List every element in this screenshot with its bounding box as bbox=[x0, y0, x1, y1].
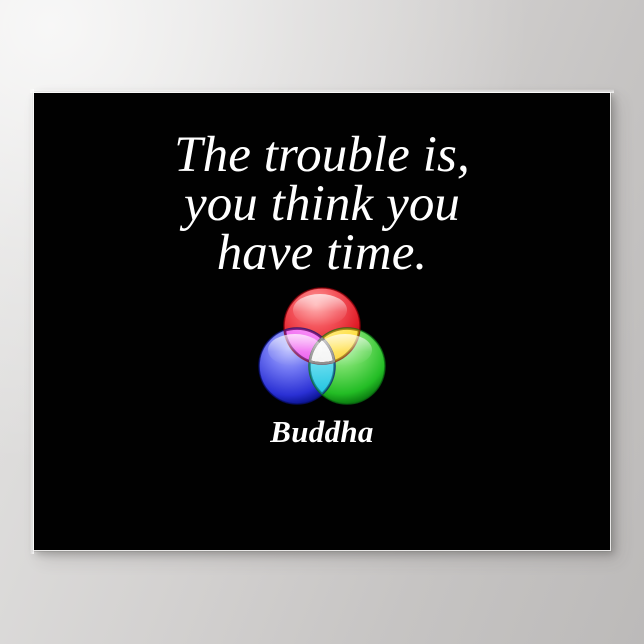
poster-frame[interactable]: The trouble is, you think you have time. bbox=[33, 92, 611, 551]
quote-line-2: you think you bbox=[34, 180, 610, 229]
quote-text: The trouble is, you think you have time. bbox=[34, 131, 610, 278]
poster-scene: The trouble is, you think you have time. bbox=[0, 0, 644, 644]
rgb-venn-diagram-icon bbox=[250, 282, 394, 410]
quote-line-1: The trouble is, bbox=[34, 131, 610, 180]
poster-artwork: The trouble is, you think you have time. bbox=[34, 93, 610, 550]
quote-line-3: have time. bbox=[34, 229, 610, 278]
quote-attribution: Buddha bbox=[270, 416, 373, 447]
